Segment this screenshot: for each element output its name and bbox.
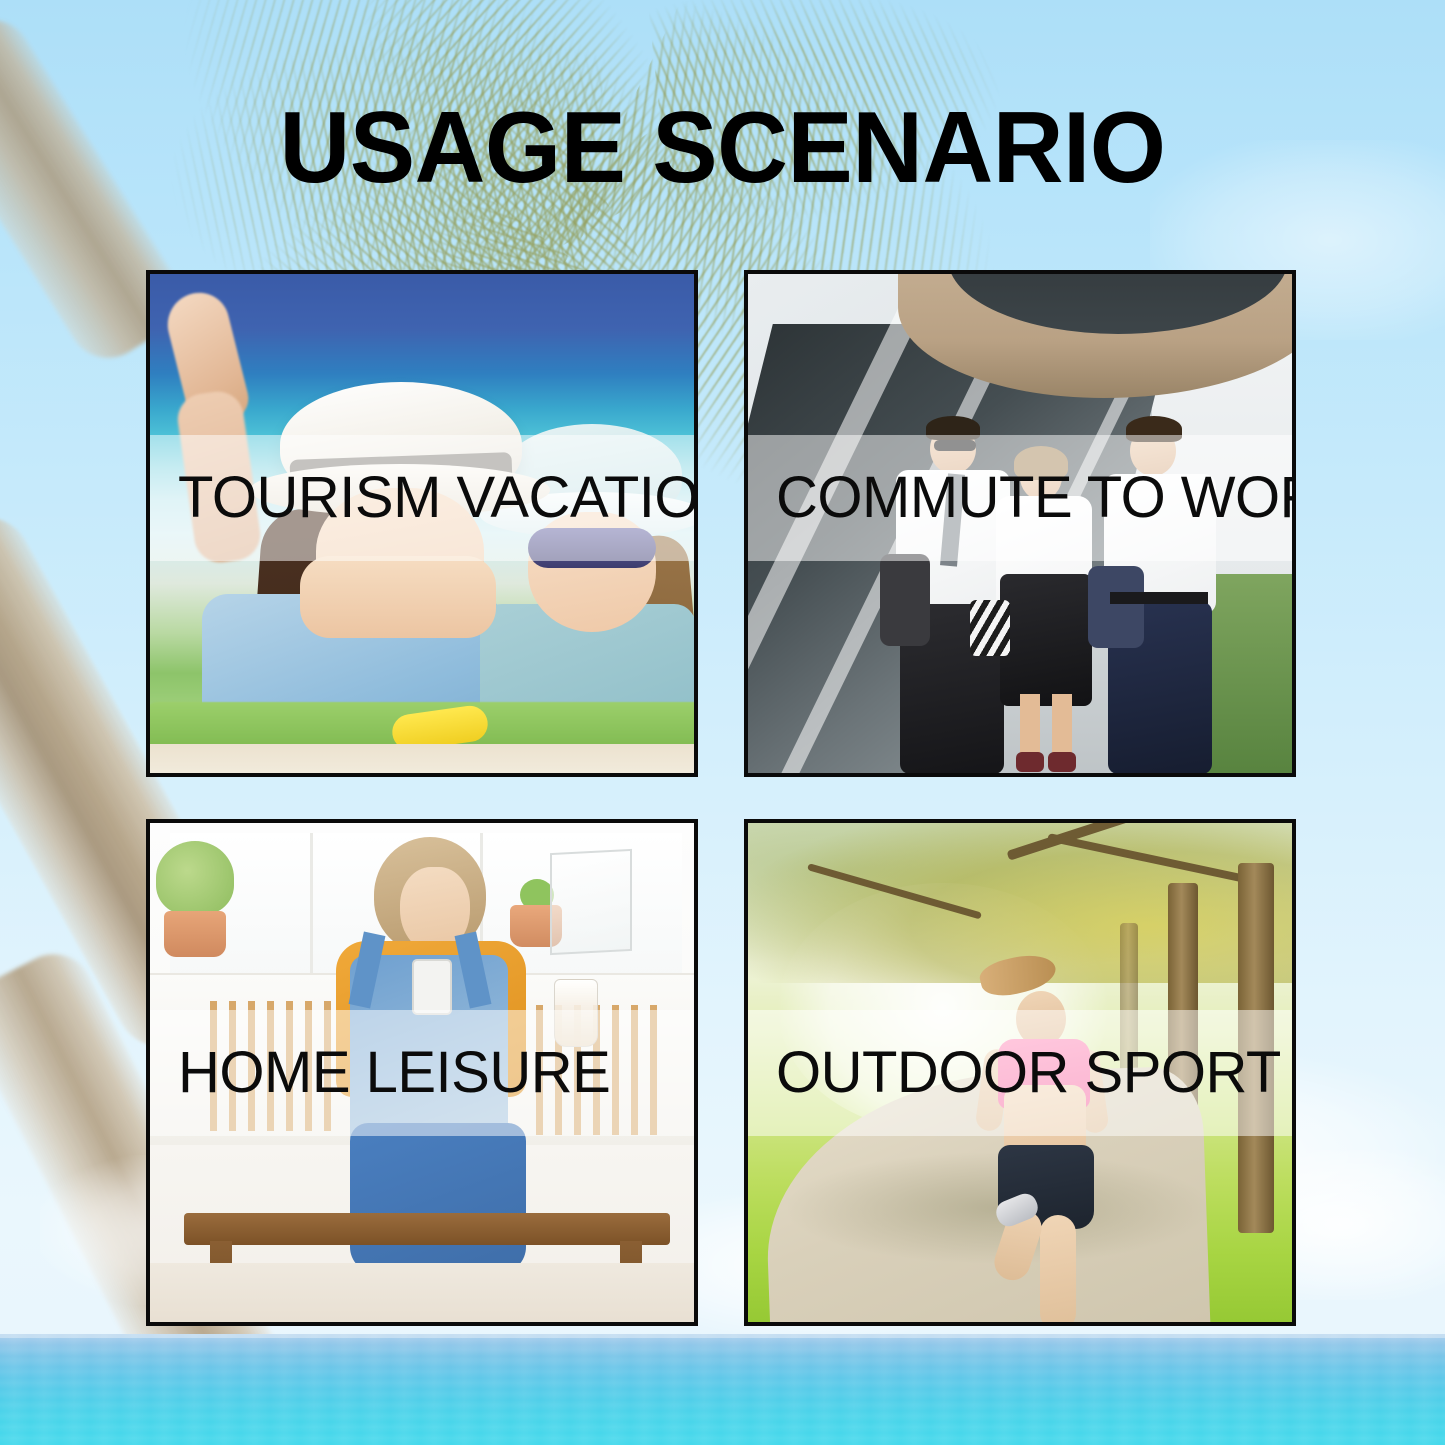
sea-band [0,1334,1445,1445]
scenario-grid: TOURISM VACATION [146,270,1300,1326]
scenario-label-commute-to-work: COMMUTE TO WORK [748,468,1296,528]
scenario-label-band: OUTDOOR SPORT [748,1010,1292,1136]
scenario-card-tourism-vacation[interactable]: TOURISM VACATION [146,270,698,777]
scenario-label-home-leisure: HOME LEISURE [150,1043,610,1103]
scenario-card-commute-to-work[interactable]: COMMUTE TO WORK [744,270,1296,777]
page-title: USAGE SCENARIO [22,96,1424,200]
scenario-card-outdoor-sport[interactable]: OUTDOOR SPORT [744,819,1296,1326]
usage-scenario-poster: USAGE SCENARIO [0,0,1445,1445]
scenario-label-outdoor-sport: OUTDOOR SPORT [748,1043,1281,1103]
sea-shimmer [0,1334,1445,1445]
scenario-label-band: HOME LEISURE [150,1010,694,1136]
scenario-label-tourism-vacation: TOURISM VACATION [150,468,698,528]
scenario-label-band: COMMUTE TO WORK [748,435,1292,561]
scenario-card-home-leisure[interactable]: HOME LEISURE [146,819,698,1326]
scenario-label-band: TOURISM VACATION [150,435,694,561]
